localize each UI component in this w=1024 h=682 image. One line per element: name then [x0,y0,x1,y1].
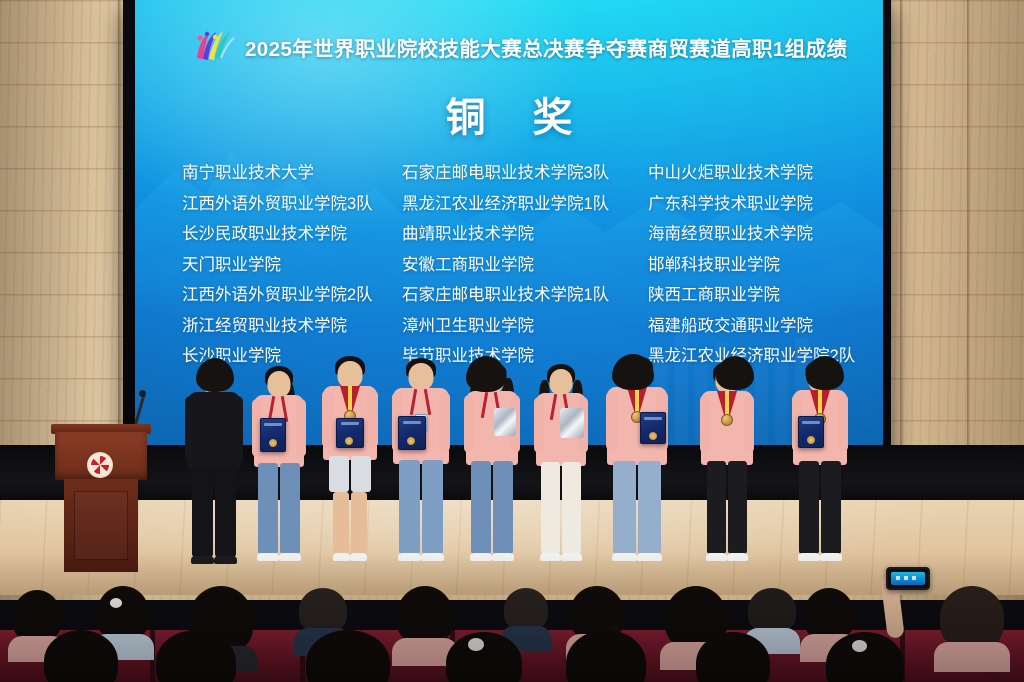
speaking-podium [55,424,147,572]
slide-header: 2025年世界职业院校技能大赛总决赛争夺赛商贸赛道高职1组成绩 [191,28,847,66]
school-name: 广东科学技术职业学院 [648,189,855,220]
school-name: 江西外语外贸职业学院2队 [182,280,373,311]
occluding-head [716,356,754,390]
winner-column-2: 石家庄邮电职业技术学院3队 黑龙江农业经济职业学院1队 曲靖职业技术学院 安徽工… [402,158,609,372]
school-name: 中山火炬职业技术学院 [648,158,855,189]
podium-front-panel [55,432,147,480]
audience-member [690,632,776,682]
occluding-head [466,356,506,392]
podium-microphone-icon [139,390,146,397]
school-name: 浙江经贸职业技术学院 [182,311,373,342]
winner-column-3: 中山火炬职业技术学院 广东科学技术职业学院 海南经贸职业技术学院 邯郸科技职业学… [648,158,855,372]
audience-member [38,630,124,682]
school-name: 黑龙江农业经济职业学院1队 [402,189,609,220]
school-name: 石家庄邮电职业技术学院3队 [402,158,609,189]
award-certificate [336,418,364,448]
ceremony-photo: 2025年世界职业院校技能大赛总决赛争夺赛商贸赛道高职1组成绩 铜 奖 南宁职业… [0,0,1024,682]
podium-base [64,479,138,572]
stage-person-student [322,356,378,554]
foil-certificate [560,408,584,438]
school-name: 陕西工商职业学院 [648,280,855,311]
bronze-medal [721,414,733,426]
stage-person-student [534,364,588,554]
stage-person-student [700,362,754,554]
school-name: 海南经贸职业技术学院 [648,219,855,250]
school-name: 漳州卫生职业学院 [402,311,609,342]
audience-member [300,630,396,682]
school-name: 长沙民政职业技术学院 [182,219,373,250]
award-certificate [640,412,666,444]
school-name: 安徽工商职业学院 [402,250,609,281]
winner-column-1: 南宁职业技术大学 江西外语外贸职业学院3队 长沙民政职业技术学院 天门职业学院 … [182,158,373,372]
award-level-heading: 铜 奖 [135,85,883,143]
stage-person-student [392,358,450,554]
audience-member [934,586,1010,672]
school-name: 福建船政交通职业学院 [648,311,855,342]
award-certificate [398,416,426,450]
school-name: 南宁职业技术大学 [182,158,373,189]
occluding-head [806,356,844,390]
occluding-head [612,354,654,390]
school-name: 石家庄邮电职业技术学院1队 [402,280,609,311]
audience-member [150,630,242,682]
slide-title: 2025年世界职业院校技能大赛总决赛争夺赛商贸赛道高职1组成绩 [245,32,847,62]
competition-logo-icon [191,28,235,66]
occluding-head [196,358,234,392]
school-name: 邯郸科技职业学院 [648,250,855,281]
award-certificate [798,416,824,448]
award-certificate [260,418,286,452]
audience-member [820,632,910,682]
phone-screen [891,572,925,585]
school-name: 天门职业学院 [182,250,373,281]
school-name: 江西外语外贸职业学院3队 [182,189,373,220]
audience-member [440,632,528,682]
audience-section [0,560,1024,682]
audience-phone-recording [886,567,930,590]
audience-member [560,630,652,682]
stage-person-student [252,366,306,554]
school-name: 曲靖职业技术学院 [402,219,609,250]
foil-certificate [494,408,516,436]
institution-emblem-icon [87,452,113,478]
